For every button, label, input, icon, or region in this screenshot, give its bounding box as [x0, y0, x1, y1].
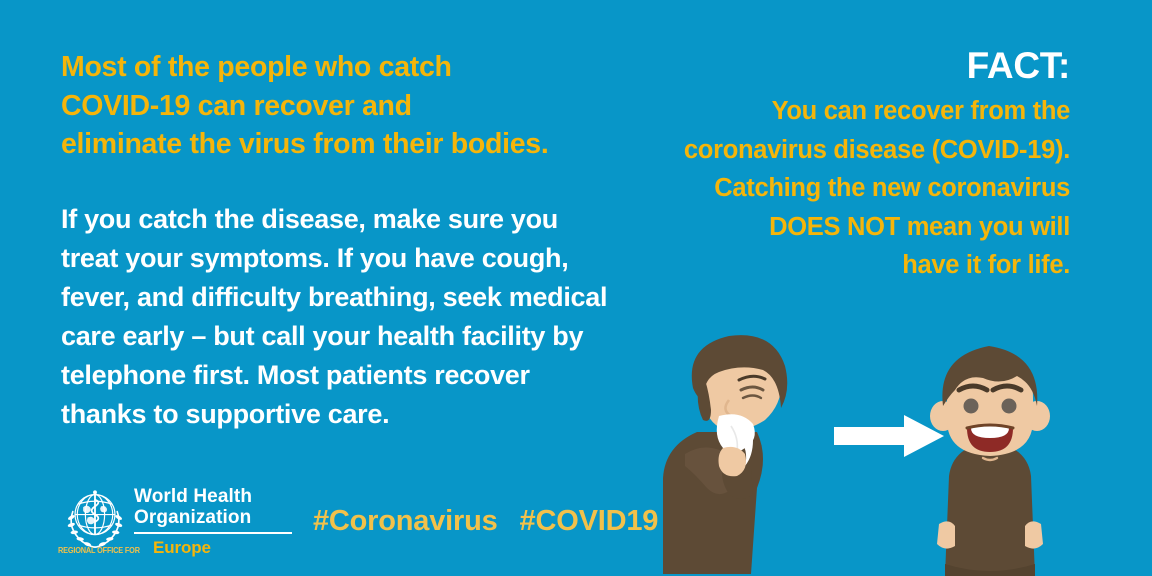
headline-text: Most of the people who catch COVID-19 ca… [61, 48, 621, 164]
who-region-line: REGIONAL OFFICE FOR Europe [58, 538, 298, 558]
hashtag-covid19: #COVID19 [520, 505, 659, 538]
fact-block: FACT: You can recover from the coronavir… [650, 44, 1070, 285]
who-wordmark: World Health Organization [134, 486, 252, 528]
fact-label: FACT: [650, 44, 1070, 88]
who-logo: World Health Organization REGIONAL OFFIC… [58, 482, 298, 556]
hashtag-group: #Coronavirus #COVID19 [313, 505, 658, 538]
fact-body-text: You can recover from the coronavirus dis… [650, 92, 1070, 285]
who-region-name: Europe [153, 538, 211, 558]
sick-man-sneezing-icon [645, 328, 835, 576]
recovered-man-smiling-icon [905, 328, 1075, 576]
who-region-prefix: REGIONAL OFFICE FOR [58, 546, 140, 555]
hashtag-coronavirus: #Coronavirus [313, 505, 498, 538]
poster-canvas: Most of the people who catch COVID-19 ca… [0, 0, 1152, 576]
illustration-group [645, 328, 1075, 576]
body-paragraph: If you catch the disease, make sure you … [61, 200, 636, 434]
who-divider-rule [134, 532, 292, 534]
